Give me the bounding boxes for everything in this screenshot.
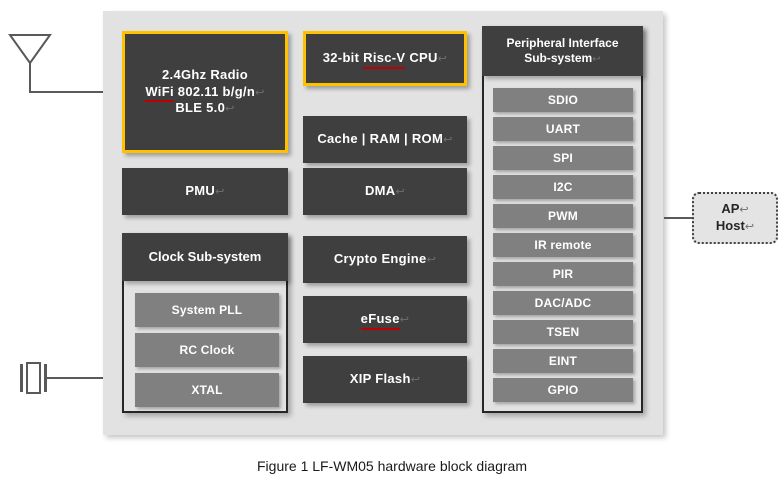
- chip-outline: 2.4Ghz Radio WiFi 802.11 b/g/n↩ BLE 5.0↩…: [103, 11, 663, 435]
- block-memory[interactable]: Cache | RAM | ROM↩: [303, 116, 467, 163]
- block-efuse[interactable]: eFuse↩: [303, 296, 467, 343]
- efuse-text: eFuse: [361, 311, 400, 328]
- radio-line-2: WiFi 802.11 b/g/n↩: [145, 84, 264, 101]
- block-ap-host[interactable]: AP↩ Host↩: [692, 192, 778, 244]
- paragraph-mark-icon: ↩: [427, 254, 437, 266]
- clock-item-system-pll[interactable]: System PLL: [135, 293, 279, 327]
- peripheral-item-sdio[interactable]: SDIO: [493, 88, 633, 112]
- block-pmu[interactable]: PMU↩: [122, 168, 288, 215]
- paragraph-mark-icon: ↩: [739, 204, 748, 216]
- radio-line-3: BLE 5.0↩: [175, 100, 234, 117]
- pmu-label-row: PMU↩: [185, 183, 224, 200]
- paragraph-mark-icon: ↩: [443, 134, 453, 146]
- ap-host-line-2: Host↩: [716, 218, 754, 235]
- radio-standard-text: 802.11 b/g/n: [174, 84, 255, 99]
- peripheral-item-pwm[interactable]: PWM: [493, 204, 633, 228]
- group-peripheral-subsystem: Peripheral Interface Sub-system↩ SDIO UA…: [482, 26, 643, 413]
- clock-subsystem-title: Clock Sub-system: [122, 233, 288, 281]
- peripheral-item-eint[interactable]: EINT: [493, 349, 633, 373]
- clock-item-xtal[interactable]: XTAL: [135, 373, 279, 407]
- paragraph-mark-icon: ↩: [225, 103, 235, 115]
- paragraph-mark-icon: ↩: [395, 186, 405, 198]
- figure-caption: Figure 1 LF-WM05 hardware block diagram: [0, 458, 784, 474]
- peripheral-item-ir-remote[interactable]: IR remote: [493, 233, 633, 257]
- block-radio[interactable]: 2.4Ghz Radio WiFi 802.11 b/g/n↩ BLE 5.0↩: [122, 31, 288, 153]
- peripheral-item-tsen[interactable]: TSEN: [493, 320, 633, 344]
- peripheral-item-pir[interactable]: PIR: [493, 262, 633, 286]
- antenna-triangle-icon: [8, 32, 52, 66]
- paragraph-mark-icon: ↩: [255, 87, 265, 99]
- peripheral-item-spi[interactable]: SPI: [493, 146, 633, 170]
- group-clock-subsystem: Clock Sub-system System PLL RC Clock XTA…: [122, 233, 288, 413]
- antenna-stem: [29, 62, 31, 93]
- peripheral-item-dac-adc[interactable]: DAC/ADC: [493, 291, 633, 315]
- peripheral-item-gpio[interactable]: GPIO: [493, 378, 633, 402]
- block-xip-flash[interactable]: XIP Flash↩: [303, 356, 467, 403]
- crystal-plate-left: [20, 364, 23, 392]
- paragraph-mark-icon: ↩: [411, 374, 421, 386]
- dma-label-row: DMA↩: [365, 183, 405, 200]
- radio-line-1: 2.4Ghz Radio: [162, 67, 248, 84]
- efuse-label-row: eFuse↩: [361, 311, 410, 328]
- paragraph-mark-icon: ↩: [215, 186, 225, 198]
- block-crypto-engine[interactable]: Crypto Engine↩: [303, 236, 467, 283]
- diagram-canvas: 2.4Ghz Radio WiFi 802.11 b/g/n↩ BLE 5.0↩…: [0, 0, 784, 492]
- memory-label-row: Cache | RAM | ROM↩: [317, 131, 452, 148]
- peripheral-item-uart[interactable]: UART: [493, 117, 633, 141]
- paragraph-mark-icon: ↩: [745, 221, 754, 233]
- radio-wifi-text: WiFi: [145, 84, 174, 101]
- crypto-label-row: Crypto Engine↩: [334, 251, 436, 268]
- paragraph-mark-icon: ↩: [592, 54, 601, 65]
- cpu-riscv-text: Risc-V: [363, 50, 405, 67]
- peripheral-item-i2c[interactable]: I2C: [493, 175, 633, 199]
- ap-host-line-1: AP↩: [721, 201, 748, 218]
- cpu-label-row: 32-bit Risc-V CPU↩: [323, 50, 447, 67]
- crystal-body: [26, 362, 41, 394]
- peripheral-subsystem-title: Peripheral Interface Sub-system↩: [482, 26, 643, 76]
- clock-item-rc-clock[interactable]: RC Clock: [135, 333, 279, 367]
- paragraph-mark-icon: ↩: [438, 53, 448, 65]
- peripheral-subsystem-title-line2: Sub-system↩: [524, 51, 601, 67]
- xip-flash-label-row: XIP Flash↩: [350, 371, 421, 388]
- block-dma[interactable]: DMA↩: [303, 168, 467, 215]
- block-cpu[interactable]: 32-bit Risc-V CPU↩: [303, 31, 467, 86]
- paragraph-mark-icon: ↩: [400, 314, 410, 326]
